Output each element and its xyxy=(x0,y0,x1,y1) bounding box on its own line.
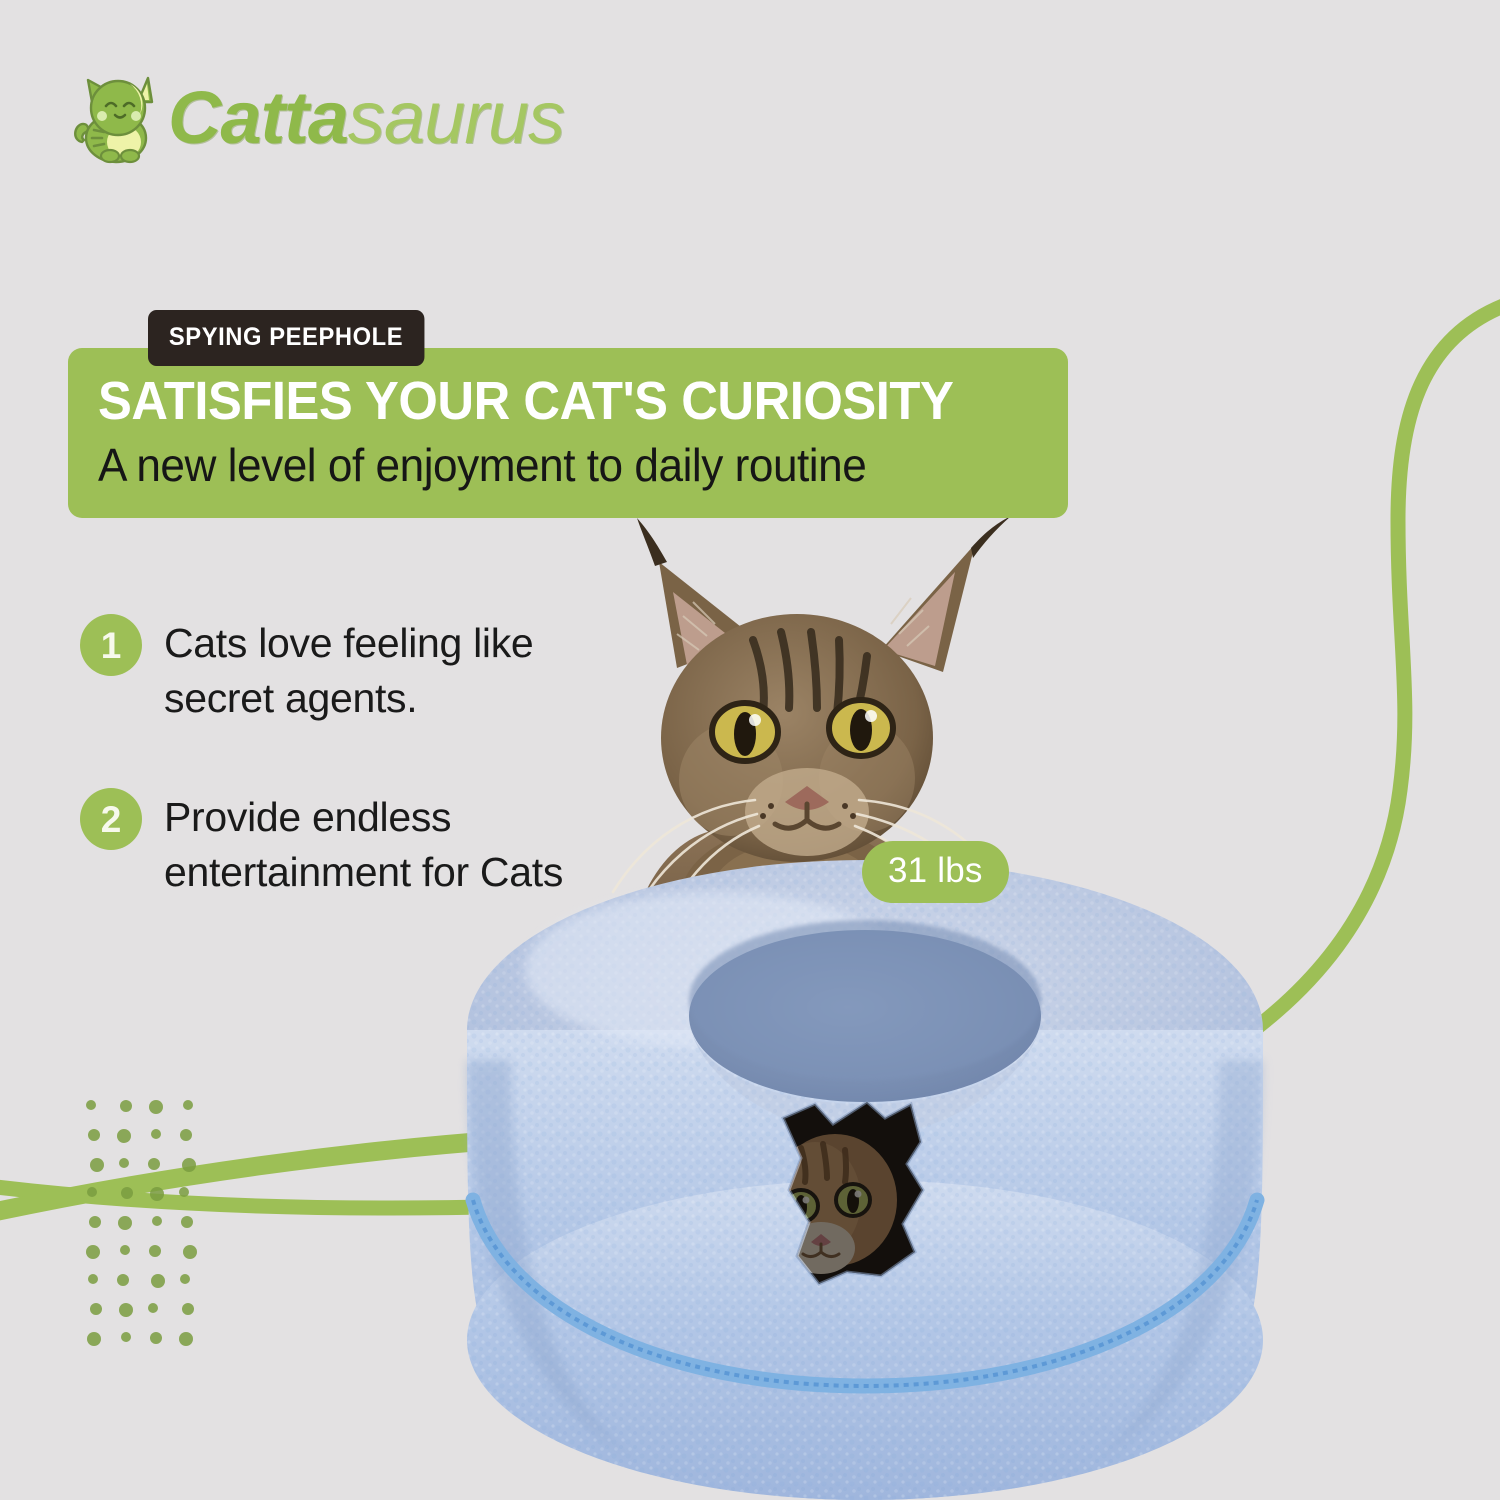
grid-dot xyxy=(180,1129,192,1141)
grid-dot xyxy=(182,1303,194,1315)
grid-dot xyxy=(87,1332,101,1346)
status-badge: SPYING PEEPHOLE xyxy=(148,310,424,366)
banner-title: SATISFIES YOUR CAT'S CURIOSITY xyxy=(98,370,991,432)
grid-dot xyxy=(90,1303,102,1315)
grid-dot xyxy=(86,1100,96,1110)
grid-dot xyxy=(120,1245,130,1255)
grid-dot xyxy=(88,1129,100,1141)
feature-number-1: 1 xyxy=(80,614,142,676)
grid-dot xyxy=(180,1274,190,1284)
grid-dot xyxy=(120,1100,132,1112)
brand-word-bold: Catta xyxy=(168,76,348,159)
grid-dot xyxy=(150,1187,164,1201)
grid-dot xyxy=(118,1216,132,1230)
grid-dot xyxy=(90,1158,104,1172)
grid-dot xyxy=(121,1187,133,1199)
grid-dot xyxy=(87,1187,97,1197)
grid-dot xyxy=(151,1129,161,1139)
banner-subtitle: A new level of enjoyment to daily routin… xyxy=(98,438,1010,492)
feature-item-1: 1 Cats love feeling like secret agents. xyxy=(80,614,600,727)
brand-word-light: saurus xyxy=(348,76,564,159)
grid-dot xyxy=(150,1332,162,1344)
cat-eye-right xyxy=(829,700,893,756)
feature-item-2: 2 Provide endless entertainment for Cats xyxy=(80,788,600,901)
grid-dot xyxy=(149,1100,163,1114)
grid-dot xyxy=(148,1303,158,1313)
grid-dot xyxy=(181,1216,193,1228)
grid-dot xyxy=(148,1158,160,1170)
grid-dot xyxy=(149,1245,161,1257)
grid-dot xyxy=(179,1187,189,1197)
grid-dot xyxy=(117,1129,131,1143)
grid-dot xyxy=(121,1332,131,1342)
brand-wordmark: Cattasaurus xyxy=(168,81,564,155)
infographic-canvas: Cattasaurus xyxy=(0,0,1500,1500)
feature-text-1: Cats love feeling like secret agents. xyxy=(164,614,600,727)
grid-dot xyxy=(151,1274,165,1288)
grid-dot xyxy=(89,1216,101,1228)
grid-dot xyxy=(86,1245,100,1259)
grid-dot xyxy=(183,1245,197,1259)
grid-dot xyxy=(152,1216,162,1226)
weight-badge: 31 lbs xyxy=(862,841,1009,903)
headline-banner: SATISFIES YOUR CAT'S CURIOSITY A new lev… xyxy=(68,348,1068,518)
feature-number-2: 2 xyxy=(80,788,142,850)
grid-dot xyxy=(179,1332,193,1346)
grid-dot xyxy=(119,1303,133,1317)
green-cat-mascot-icon xyxy=(68,68,164,168)
grid-dot xyxy=(183,1100,193,1110)
grid-dot xyxy=(88,1274,98,1284)
cat-eye-left xyxy=(712,703,778,761)
grid-dot xyxy=(182,1158,196,1172)
grid-dot xyxy=(117,1274,129,1286)
brand-logo[interactable]: Cattasaurus xyxy=(68,68,564,168)
grid-dot xyxy=(119,1158,129,1168)
feature-text-2: Provide endless entertainment for Cats xyxy=(164,788,600,901)
